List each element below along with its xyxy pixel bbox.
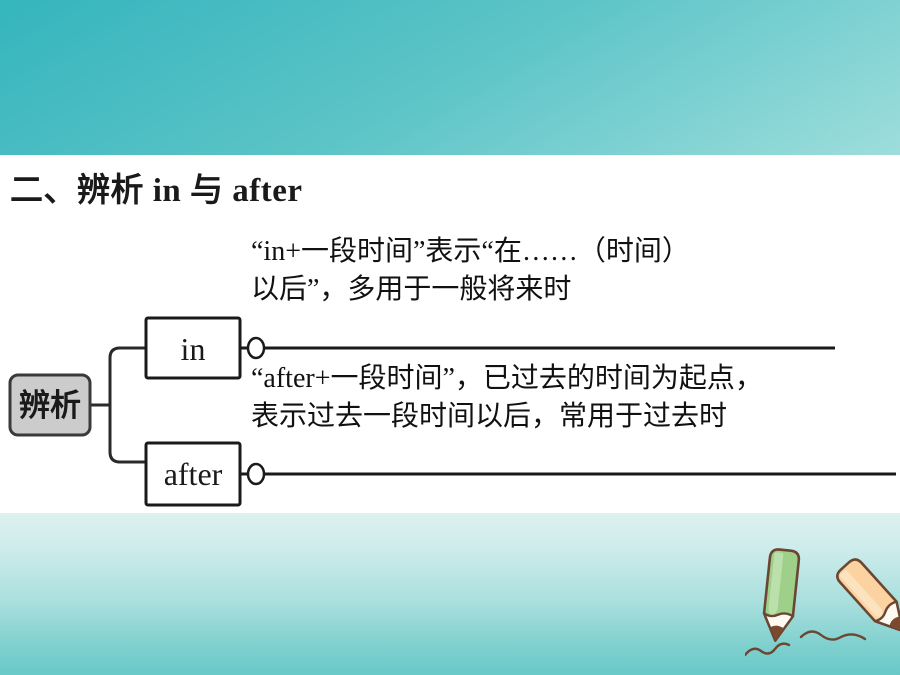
connector-after-circle-icon <box>248 464 264 484</box>
node-after-label: after <box>164 456 223 492</box>
pencil-green-icon <box>761 549 799 643</box>
pencils-decoration <box>745 545 900 665</box>
pencil-squiggle-left-icon <box>745 644 789 655</box>
pencil-squiggle-right-icon <box>801 631 865 639</box>
explanation-in: “in+一段时间”表示“在……（时间） 以后”，多用于一般将来时 <box>251 233 891 309</box>
node-in-label: in <box>181 331 206 367</box>
node-branch-after: after <box>146 443 896 505</box>
explanation-in-line-1: “in+一段时间”表示“在……（时间） <box>251 233 891 271</box>
explanation-after-line-1: “after+一段时间”，已过去的时间为起点， <box>251 360 896 398</box>
connector-lines <box>90 348 146 462</box>
connector-branch-bracket <box>110 348 146 462</box>
pencil-orange-icon <box>834 556 900 640</box>
explanation-after-line-2: 表示过去一段时间以后，常用于过去时 <box>251 398 896 436</box>
slide-root: 二、辨析 in 与 after 辨析 in <box>0 0 900 675</box>
explanation-after: “after+一段时间”，已过去的时间为起点， 表示过去一段时间以后，常用于过去… <box>251 360 896 436</box>
connector-in-circle-icon <box>248 338 264 358</box>
mindmap-diagram: 辨析 in after “in+一段时间”表示“在……（时间 <box>0 155 900 513</box>
explanation-in-line-2: 以后”，多用于一般将来时 <box>251 271 891 309</box>
node-root-label: 辨析 <box>19 388 81 423</box>
node-root: 辨析 <box>10 375 90 435</box>
